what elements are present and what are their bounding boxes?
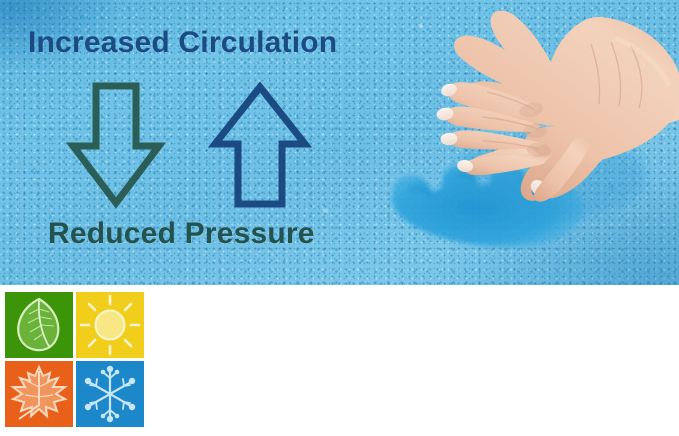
product-feature-graphic: Increased Circulation Reduced Pressure [0,0,679,436]
up-arrow-icon [208,80,312,210]
leaf-icon [5,292,73,358]
four-season-icon-grid [5,292,146,428]
summer-sun-tile [76,292,144,358]
winter-snow-tile [76,361,144,427]
reduced-pressure-label: Reduced Pressure [48,217,315,251]
hand-pressing-foam-illustration [379,0,679,285]
spring-leaf-tile [5,292,73,358]
snowflake-icon [76,361,144,427]
autumn-maple-tile [5,361,73,427]
maple-leaf-icon [5,361,73,427]
sun-icon [76,292,144,358]
gel-memory-foam-photo: Increased Circulation Reduced Pressure [0,0,679,285]
down-arrow-icon [66,80,166,210]
increased-circulation-label: Increased Circulation [28,26,337,60]
feature-info-strip: 100% GEL-Infused Memory Foam with Temper… [0,285,679,436]
